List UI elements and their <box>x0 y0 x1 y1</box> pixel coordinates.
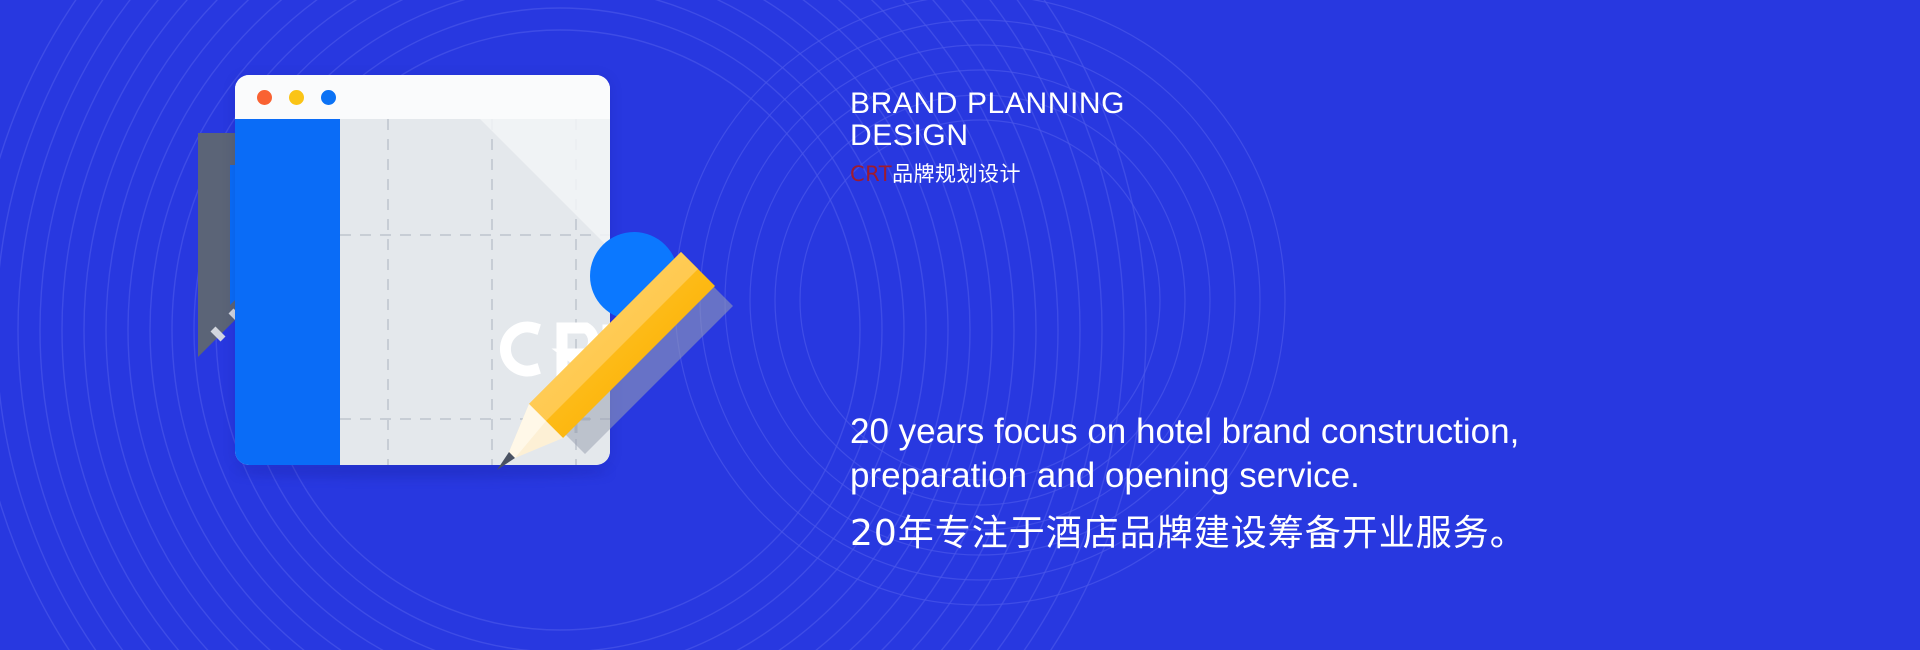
heading-chinese: 品牌规划设计 <box>892 162 1021 186</box>
pencil-icon <box>475 230 740 495</box>
tagline-english: 20 years focus on hotel brand constructi… <box>850 410 1610 498</box>
window-titlebar <box>235 75 610 119</box>
heading-chinese-row: CRT品牌规划设计 <box>850 162 1125 186</box>
tagline-chinese: 20年专注于酒店品牌建设筹备开业服务。 <box>850 512 1610 556</box>
heading-english: BRAND PLANNING DESIGN <box>850 88 1125 152</box>
heading-brand-mark: CRT <box>850 162 892 186</box>
brand-banner: BRAND PLANNING DESIGN CRT品牌规划设计 20 years… <box>0 0 1920 650</box>
window-sidebar-panel <box>235 119 340 465</box>
close-dot-icon <box>257 90 272 105</box>
tagline-block: 20 years focus on hotel brand constructi… <box>850 410 1610 556</box>
hero-illustration <box>190 60 730 540</box>
minimize-dot-icon <box>289 90 304 105</box>
window-traffic-lights <box>257 90 336 105</box>
banner-content: BRAND PLANNING DESIGN CRT品牌规划设计 20 years… <box>850 0 1850 650</box>
maximize-dot-icon <box>321 90 336 105</box>
heading-block: BRAND PLANNING DESIGN CRT品牌规划设计 <box>850 88 1125 186</box>
